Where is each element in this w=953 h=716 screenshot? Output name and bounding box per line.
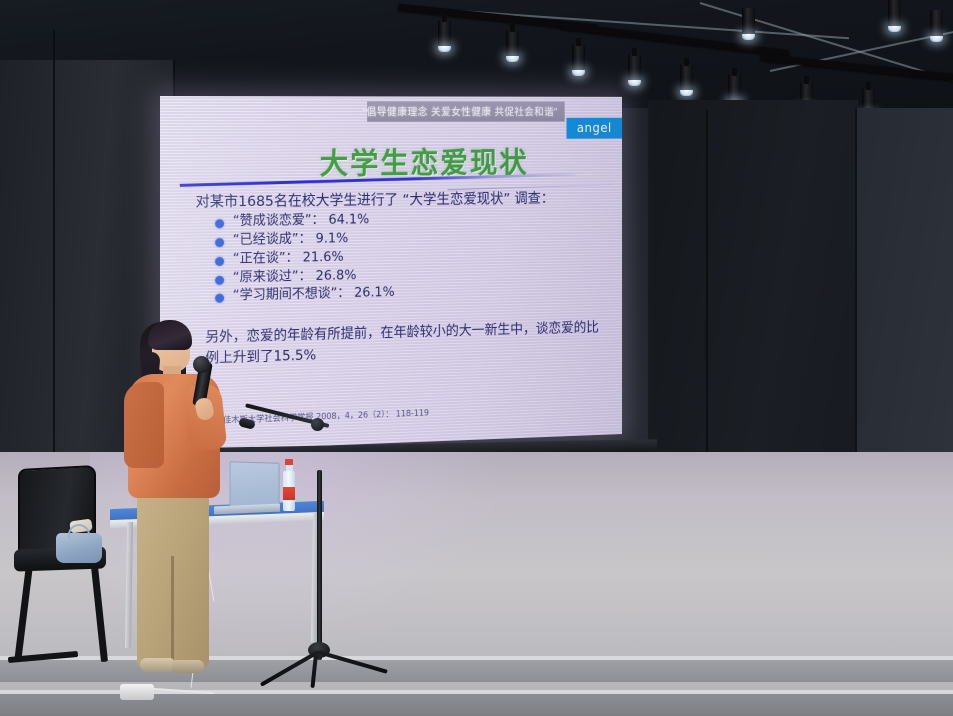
slide-body: 对某市1685名在校大学生进行了 “大学生恋爱现状” 调查： “赞成谈恋爱”： … (194, 190, 610, 370)
presenter-arm-left (124, 382, 164, 468)
presenter-shoe-right (172, 660, 204, 673)
mic-boom-joint (311, 418, 324, 431)
right-wall-edge (855, 108, 953, 453)
bullet-dot-icon (215, 257, 224, 266)
ceiling-spotlight-icon (888, 0, 901, 32)
bullet-dot-icon (215, 275, 224, 284)
bullet-label: “原来谈过”： 26.8% (233, 267, 357, 287)
ceiling-spotlight-icon (930, 10, 943, 42)
presenter-trouser-seam (171, 556, 174, 668)
lecture-hall-scene: “倡导健康理念 关爱女性健康 共促社会和谐” angel 大学生恋爱现状 对某市… (0, 0, 953, 716)
ceiling-spotlight-icon (438, 20, 451, 52)
slide-content: “倡导健康理念 关爱女性健康 共促社会和谐” angel 大学生恋爱现状 对某市… (160, 96, 622, 452)
bullet-dot-icon (215, 219, 224, 228)
ceiling-spotlight-icon (506, 30, 519, 62)
angel-logo-text: angel (577, 121, 612, 135)
slide-intro-line: 对某市1685名在校大学生进行了 “大学生恋爱现状” 调查： (196, 190, 610, 212)
slide-paragraph: 另外，恋爱的年龄有所提前，在年龄较小的大一新生中，谈恋爱的比例上升到了15.5% (205, 318, 607, 370)
led-presentation-screen: “倡导健康理念 关爱女性健康 共促社会和谐” angel 大学生恋爱现状 对某市… (160, 96, 622, 452)
ceiling-spotlight-icon (742, 8, 755, 40)
bullet-label: “赞成谈恋爱”： 64.1% (233, 212, 369, 231)
presenter-hair (148, 320, 192, 350)
ceiling-spotlight-icon (680, 64, 693, 96)
bullet-dot-icon (215, 238, 224, 247)
wall-seam (706, 110, 708, 460)
wall-seam (855, 108, 857, 453)
mic-stand-pole (317, 470, 322, 660)
microphone-head-icon (193, 356, 210, 373)
slide-banner: “倡导健康理念 关爱女性健康 共促社会和谐” (367, 101, 565, 122)
angel-logo: angel (566, 118, 622, 139)
presenter-shoe-left (140, 658, 174, 672)
banner-text: “倡导健康理念 关爱女性健康 共促社会和谐” (363, 104, 558, 119)
right-wall-panel (648, 100, 858, 490)
power-strip[interactable] (120, 684, 154, 700)
bottle-label (283, 487, 295, 500)
bullet-dot-icon (215, 294, 224, 303)
bullet-label: “学习期间不想谈”： 26.1% (233, 285, 395, 306)
ceiling-spotlight-icon (572, 44, 585, 76)
ceiling-spotlight-icon (628, 54, 641, 86)
wall-seam (53, 30, 55, 490)
bullet-label: “已经谈成”： 9.1% (233, 230, 349, 249)
water-bottle (283, 459, 295, 511)
bullet-list: “赞成谈恋爱”： 64.1% “已经谈成”： 9.1% “正在谈”： 21.6%… (194, 209, 610, 307)
bullet-label: “正在谈”： 21.6% (233, 249, 344, 268)
